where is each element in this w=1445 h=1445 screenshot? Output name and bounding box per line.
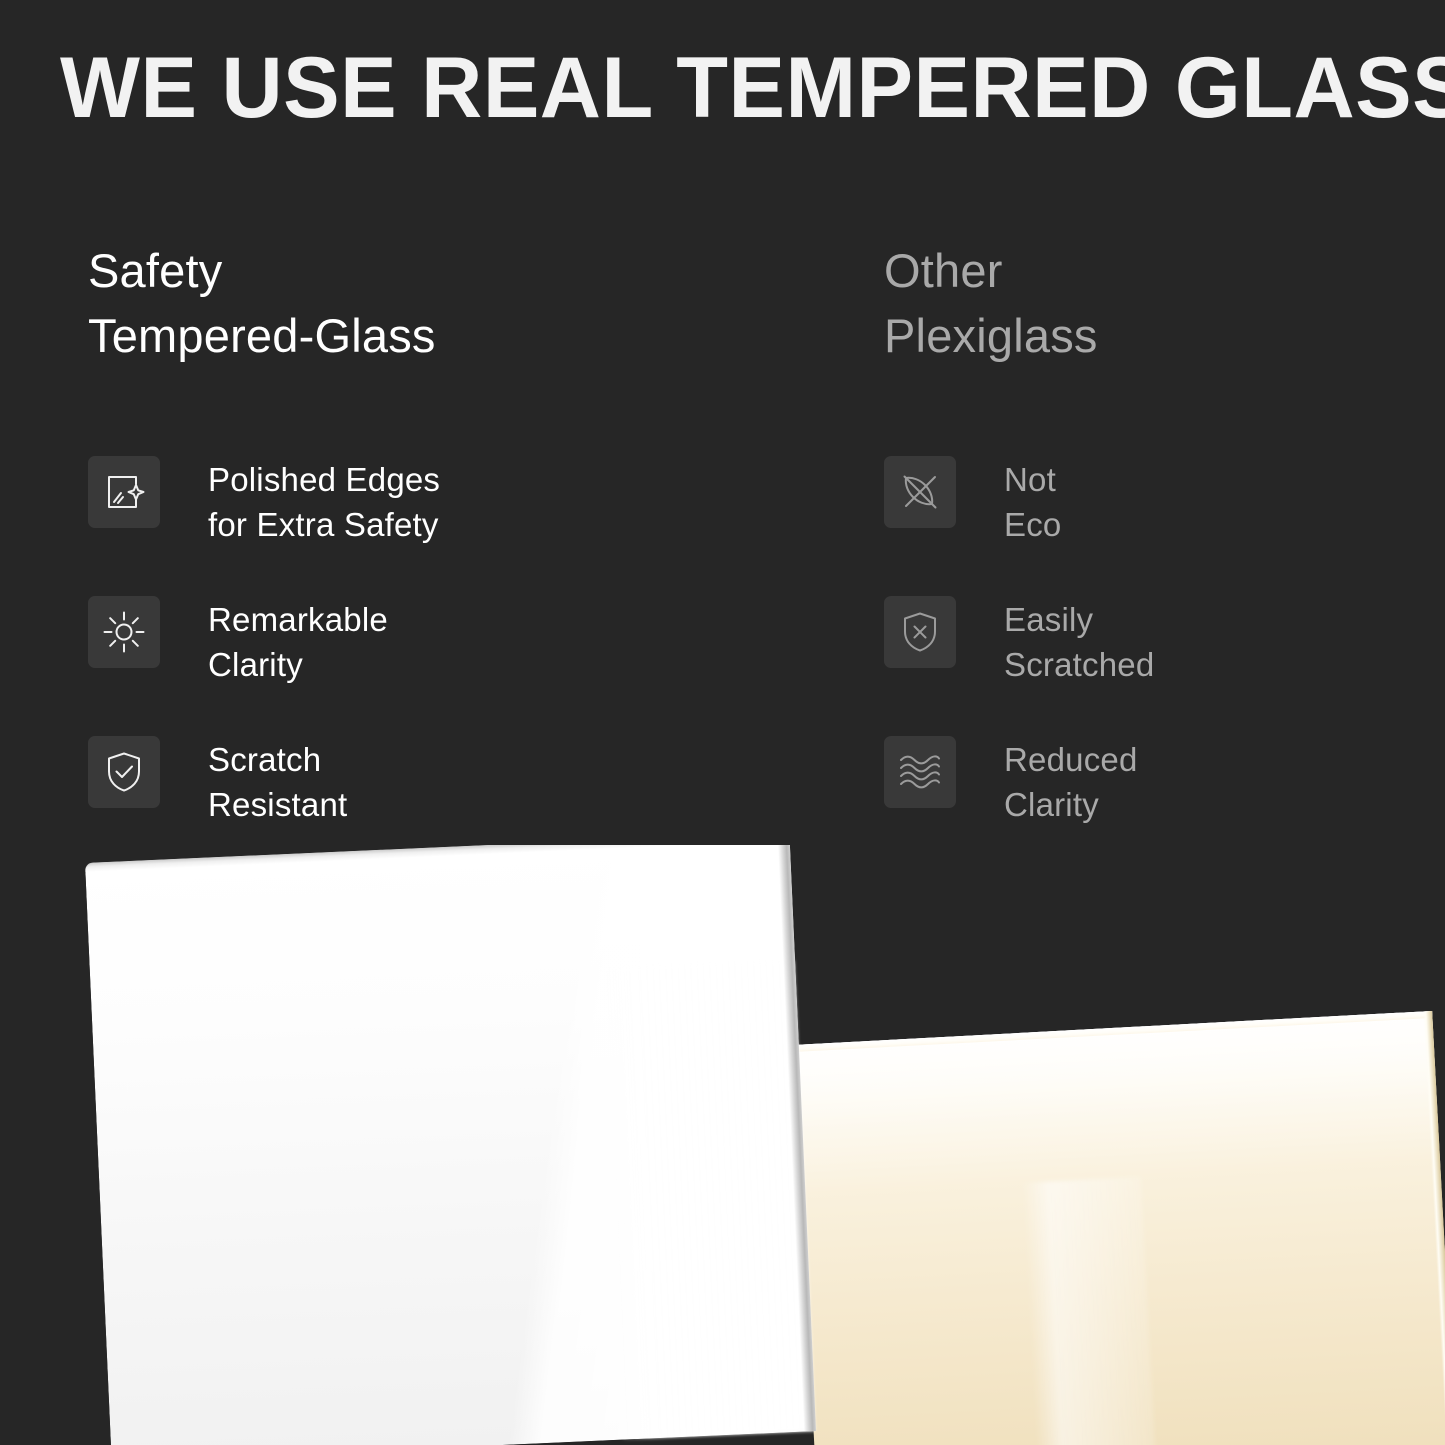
wavy-lines-blur-icon — [884, 736, 956, 808]
shield-x-icon — [884, 596, 956, 668]
feature-label: Remarkable Clarity — [208, 597, 388, 687]
feature-row: Easily Scratched — [884, 594, 1414, 734]
feature-label: Not Eco — [1004, 457, 1061, 547]
tempered-glass-panel — [85, 845, 816, 1445]
column-title: Other Plexiglass — [884, 238, 1414, 368]
feature-list: Not Eco Easily Scratched — [884, 454, 1414, 874]
page-title: WE USE REAL TEMPERED GLASS — [60, 40, 1370, 136]
feature-row: Not Eco — [884, 454, 1414, 594]
plexiglass-panel — [793, 1011, 1445, 1445]
feature-label: Scratch Resistant — [208, 737, 347, 827]
leaf-off-icon — [884, 456, 956, 528]
plexiglass-top-glow — [793, 1011, 1440, 1195]
promo-graphic: WE USE REAL TEMPERED GLASS Safety Temper… — [0, 0, 1445, 1445]
feature-label: Reduced Clarity — [1004, 737, 1138, 827]
tempered-glass-reflection — [602, 960, 815, 1440]
tempered-glass-polished-top-edge — [85, 845, 790, 872]
feature-list: Polished Edges for Extra Safety Remarkab… — [88, 454, 788, 874]
feature-row: Polished Edges for Extra Safety — [88, 454, 788, 594]
sun-brightness-icon — [88, 596, 160, 668]
feature-label: Polished Edges for Extra Safety — [208, 457, 440, 547]
comparison-column-tempered-glass: Safety Tempered-Glass Polished Edges for… — [88, 238, 788, 368]
plexiglass-reflection — [1023, 1177, 1166, 1445]
column-title: Safety Tempered-Glass — [88, 238, 788, 368]
polished-glass-pane-sparkle-icon — [88, 456, 160, 528]
plexiglass-right-edge — [1423, 1011, 1445, 1445]
comparison-column-plexiglass: Other Plexiglass Not Eco — [884, 238, 1414, 368]
feature-row: Remarkable Clarity — [88, 594, 788, 734]
product-photo — [0, 845, 1445, 1445]
shield-check-icon — [88, 736, 160, 808]
feature-label: Easily Scratched — [1004, 597, 1154, 687]
